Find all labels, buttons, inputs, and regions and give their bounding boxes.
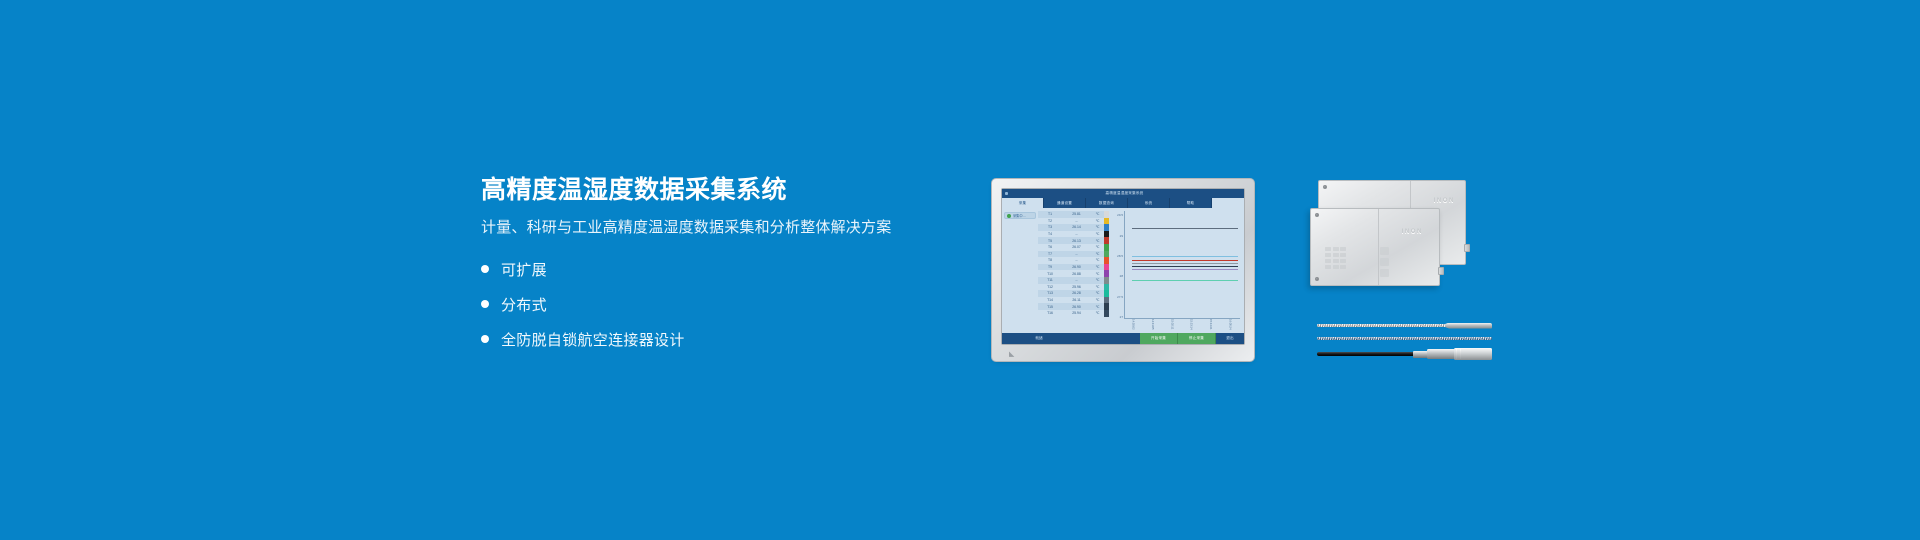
cell-channel: T7 [1039, 252, 1061, 256]
cell-value: -- [1061, 232, 1092, 236]
x-tick-label: 14:20:02 [1132, 319, 1136, 333]
cell-unit: ℃ [1092, 239, 1103, 243]
window-title: 高精度温湿度采集系统 [1008, 191, 1241, 196]
spec-cell [1340, 253, 1346, 257]
table-row[interactable]: T2--℃ [1038, 218, 1104, 225]
cell-unit: ℃ [1092, 291, 1103, 295]
cell-unit: ℃ [1092, 272, 1103, 276]
sidebar: 采集中… [1002, 208, 1038, 333]
table-row[interactable]: T4--℃ [1038, 231, 1104, 238]
x-tick-label: 15:44:21 [1209, 319, 1213, 333]
tab-system[interactable]: 系统 [1128, 198, 1170, 208]
sensor-probes [1317, 322, 1492, 364]
cell-unit: ℃ [1092, 298, 1103, 302]
cell-channel: T4 [1039, 232, 1061, 236]
chart-series-line [1132, 256, 1238, 257]
spec-cell [1325, 265, 1331, 269]
software-screen: 高精度温湿度采集系统 采集 通道设置 数据查询 系统 帮助 [1002, 189, 1244, 344]
spec-cell [1325, 247, 1331, 251]
chart-y-axis: 29.52928.52827.527 [1111, 211, 1124, 333]
housing-ring [1460, 349, 1462, 359]
y-tick-label: 29.5 [1117, 213, 1123, 217]
screw-icon [1315, 277, 1319, 281]
probe-blue-cable [1317, 336, 1492, 341]
status-message: 就绪 [1002, 336, 1076, 341]
chart-series-line [1132, 228, 1238, 229]
monitor-inner-frame: 高精度温湿度采集系统 采集 通道设置 数据查询 系统 帮助 [1001, 188, 1245, 345]
cell-channel: T11 [1039, 278, 1061, 282]
chart-series-line [1132, 260, 1238, 261]
trend-chart[interactable]: 29.52928.52827.527 14:20:0214:41:0515:02… [1109, 208, 1244, 333]
feature-label: 分布式 [501, 294, 547, 315]
connector-shell [1427, 349, 1455, 359]
spec-row [1325, 259, 1371, 263]
cell-value: 26.07 [1061, 245, 1092, 249]
tab-bar: 采集 通道设置 数据查询 系统 帮助 [1002, 198, 1244, 208]
cell-channel: T1 [1039, 212, 1061, 216]
chart-plot-area [1124, 211, 1240, 319]
app-titlebar: 高精度温湿度采集系统 [1002, 189, 1244, 198]
y-tick-label: 28.5 [1117, 254, 1123, 258]
housing-ring [1456, 349, 1458, 359]
spec-cell [1325, 259, 1331, 263]
spec-row [1325, 265, 1371, 269]
cell-value: -- [1061, 258, 1092, 262]
table-row[interactable]: T11--℃ [1038, 277, 1104, 284]
table-row[interactable]: T1026.88℃ [1038, 270, 1104, 277]
status-label: 就绪 [1035, 336, 1042, 341]
record-icon [1007, 214, 1011, 218]
spec-cell [1333, 247, 1339, 251]
tab-help[interactable]: 帮助 [1170, 198, 1212, 208]
list-item: 分布式 [481, 289, 951, 319]
table-row[interactable]: T7--℃ [1038, 251, 1104, 258]
chart-series-line [1132, 263, 1238, 264]
tab-acquire[interactable]: 采集 [1002, 198, 1044, 208]
tab-bar-filler [1212, 198, 1244, 208]
cell-unit: ℃ [1092, 258, 1103, 262]
table-row[interactable]: T1225.96℃ [1038, 284, 1104, 291]
x-tick-label: 16:05:24 [1228, 319, 1232, 333]
cell-channel: T9 [1039, 265, 1061, 269]
cell-value: 25.94 [1061, 311, 1092, 315]
sensor-housing [1454, 348, 1493, 360]
cell-channel: T12 [1039, 285, 1061, 289]
probe-braid-texture [1317, 337, 1492, 340]
y-tick-label: 28 [1120, 274, 1123, 278]
cell-unit: ℃ [1092, 245, 1103, 249]
cell-unit: ℃ [1092, 252, 1103, 256]
probe-braid-texture [1317, 324, 1447, 327]
y-tick-label: 29 [1120, 234, 1123, 238]
chart-series-line [1132, 269, 1238, 270]
probe-cable [1317, 352, 1415, 356]
cell-value: 26.90 [1061, 305, 1092, 309]
panel-seam [1378, 209, 1379, 285]
y-tick-label: 27 [1120, 315, 1123, 319]
cell-value: 26.28 [1061, 291, 1092, 295]
cell-unit: ℃ [1092, 305, 1103, 309]
cell-channel: T8 [1039, 258, 1061, 262]
spec-cell [1333, 259, 1339, 263]
chart-series-line [1132, 280, 1238, 281]
tab-data-query[interactable]: 数据查询 [1086, 198, 1128, 208]
tab-channel-settings[interactable]: 通道设置 [1044, 198, 1086, 208]
power-led-icon: ◣ [1009, 352, 1015, 358]
brand-label-rear: INON [1434, 198, 1455, 204]
cell-value: 26.90 [1061, 265, 1092, 269]
table-row[interactable]: T626.07℃ [1038, 244, 1104, 251]
cell-unit: ℃ [1092, 278, 1103, 282]
spec-cell [1340, 259, 1346, 263]
cell-channel: T15 [1039, 305, 1061, 309]
cell-value: 26.11 [1061, 298, 1092, 302]
y-tick-label: 27.5 [1117, 295, 1123, 299]
cell-value: -- [1061, 219, 1092, 223]
feature-label: 全防脱自锁航空连接器设计 [501, 329, 685, 350]
x-tick-label: 15:02:11 [1170, 319, 1174, 333]
bullet-icon [481, 300, 489, 308]
logger-box-front: INON [1310, 208, 1440, 286]
spec-cell [1340, 265, 1346, 269]
table-row[interactable]: T8--℃ [1038, 257, 1104, 264]
table-row[interactable]: T926.90℃ [1038, 264, 1104, 271]
spec-tag [1380, 269, 1389, 277]
table-row[interactable]: T1526.90℃ [1038, 303, 1104, 310]
cell-value: 26.88 [1061, 272, 1092, 276]
cell-channel: T5 [1039, 239, 1061, 243]
x-tick-label: 15:23:14 [1190, 319, 1194, 333]
exit-button[interactable]: 退出 [1216, 333, 1244, 344]
chart-x-axis: 14:20:0214:41:0515:02:1115:23:1415:44:21… [1124, 319, 1240, 333]
monitor-bezel: 高精度温湿度采集系统 采集 通道设置 数据查询 系统 帮助 [991, 178, 1255, 362]
spec-row [1325, 253, 1371, 257]
table-row[interactable]: T1426.11℃ [1038, 297, 1104, 304]
spec-cell [1340, 247, 1346, 251]
spec-cell [1325, 253, 1331, 257]
table-row[interactable]: T1625.94℃ [1038, 310, 1104, 317]
spec-cell [1333, 265, 1339, 269]
screw-icon [1323, 185, 1327, 189]
table-row[interactable]: T1326.28℃ [1038, 290, 1104, 297]
hero-copy: 高精度温湿度数据采集系统 计量、科研与工业高精度温湿度数据采集和分析整体解决方案… [481, 176, 951, 359]
spec-cell [1333, 253, 1339, 257]
spec-label [1325, 247, 1371, 277]
cell-value: -- [1061, 278, 1092, 282]
cell-unit: ℃ [1092, 265, 1103, 269]
x-tick-label: 14:41:05 [1151, 319, 1155, 333]
chart-series-line [1132, 266, 1238, 267]
workspace: 采集中… T125.81℃T2--℃T326.14℃T4--℃T526.13℃T… [1002, 208, 1244, 333]
hero-subtitle: 计量、科研与工业高精度温湿度数据采集和分析整体解决方案 [481, 219, 951, 237]
cell-value: -- [1061, 252, 1092, 256]
spec-tag [1380, 247, 1389, 255]
table-row[interactable]: T326.14℃ [1038, 224, 1104, 231]
monitor-device: 高精度温湿度采集系统 采集 通道设置 数据查询 系统 帮助 [991, 178, 1255, 362]
list-item: 全防脱自锁航空连接器设计 [481, 324, 951, 354]
probe-braided-steel [1317, 322, 1492, 329]
list-item: 可扩展 [481, 254, 951, 284]
bullet-icon [481, 335, 489, 343]
cell-channel: T14 [1039, 298, 1061, 302]
cell-value: 25.81 [1061, 212, 1092, 216]
cell-unit: ℃ [1092, 232, 1103, 236]
spec-tag [1380, 258, 1389, 266]
cell-channel: T13 [1039, 291, 1061, 295]
cell-unit: ℃ [1092, 212, 1103, 216]
bullet-icon [481, 265, 489, 273]
data-logger-enclosures: INON INON [1310, 178, 1490, 308]
start-acquisition-button[interactable]: 开始采集 [1140, 333, 1178, 344]
cell-unit: ℃ [1092, 311, 1103, 315]
channel-table[interactable]: T125.81℃T2--℃T326.14℃T4--℃T526.13℃T626.0… [1038, 208, 1104, 333]
sidebar-item-status[interactable]: 采集中… [1004, 212, 1036, 219]
sidebar-item-label: 采集中… [1013, 213, 1026, 218]
cell-value: 26.14 [1061, 225, 1092, 229]
brand-label-front: INON [1402, 229, 1423, 235]
cell-channel: T2 [1039, 219, 1061, 223]
table-row[interactable]: T125.81℃ [1038, 211, 1104, 218]
status-bar: 就绪 开始采集 停止采集 退出 [1002, 333, 1244, 344]
page-title: 高精度温湿度数据采集系统 [481, 176, 951, 204]
cell-value: 26.13 [1061, 239, 1092, 243]
cell-channel: T16 [1039, 311, 1061, 315]
spec-row [1325, 247, 1371, 251]
feature-list: 可扩展 分布式 全防脱自锁航空连接器设计 [481, 254, 951, 354]
screw-icon [1315, 213, 1319, 217]
cell-channel: T6 [1039, 245, 1061, 249]
probe-aviation-connector [1317, 348, 1492, 360]
probe-tip [1445, 323, 1492, 329]
cell-unit: ℃ [1092, 225, 1103, 229]
table-row[interactable]: T526.13℃ [1038, 237, 1104, 244]
product-banner: 高精度温湿度数据采集系统 计量、科研与工业高精度温湿度数据采集和分析整体解决方案… [0, 0, 1920, 540]
cell-unit: ℃ [1092, 285, 1103, 289]
cell-unit: ℃ [1092, 219, 1103, 223]
feature-label: 可扩展 [501, 259, 547, 280]
cell-channel: T3 [1039, 225, 1061, 229]
mount-lug [1438, 267, 1444, 275]
stop-acquisition-button[interactable]: 停止采集 [1178, 333, 1216, 344]
cell-channel: T10 [1039, 272, 1061, 276]
mount-lug [1464, 244, 1470, 252]
cell-value: 25.96 [1061, 285, 1092, 289]
